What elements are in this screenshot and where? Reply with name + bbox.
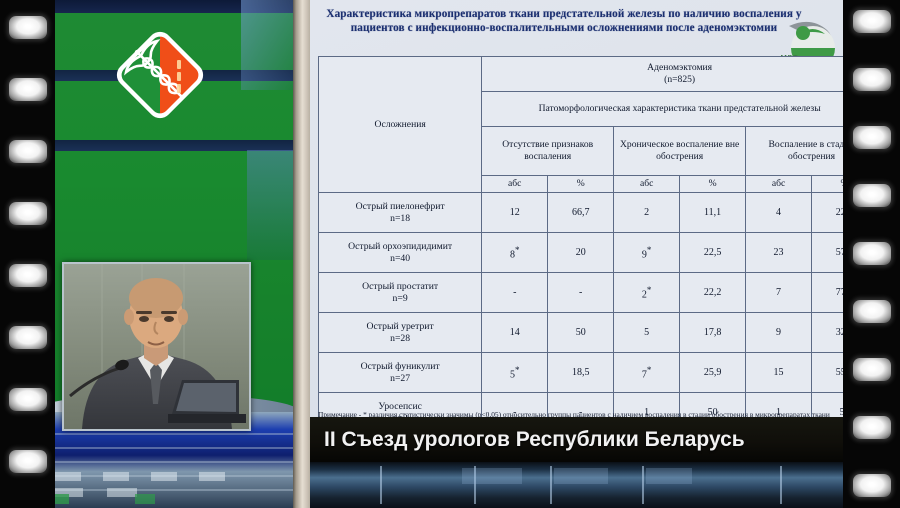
row-label-count: n=40 [390,253,410,264]
header-unit-abs-2: абс [614,176,680,193]
film-perforation [853,242,891,265]
results-table-wrapper: Осложнения Аденомэктомия (n=825) Патомор… [318,56,843,433]
film-perforation [853,416,891,439]
table-cell: 7 [746,273,812,313]
video-frame: Характеристика микропрепаратов ткани пре… [0,0,900,508]
table-cell: 23 [746,233,812,273]
table-cell: 9* [614,233,680,273]
row-label-count: n=27 [390,373,410,384]
film-perforation [853,474,891,497]
table-cell: 18,5 [548,353,614,393]
table-cell: - [548,273,614,313]
table-cell: 55,6 [812,353,843,393]
table-cell: 9 [746,313,812,353]
backdrop-screen-glow-mid [247,150,293,260]
table-cell: 17,8 [680,313,746,353]
event-banner: II Съезд урологов Республики Беларусь [310,417,843,462]
header-unit-pct-2: % [680,176,746,193]
header-group-n: (n=825) [664,74,695,85]
speaker-image [64,264,249,429]
significance-star: * [647,365,652,375]
header-unit-pct-1: % [548,176,614,193]
film-perforation [9,450,47,473]
slide-title: Характеристика микропрепаратов ткани пре… [314,7,814,36]
table-cell: 14 [482,313,548,353]
table-cell: 57,5 [812,233,843,273]
row-label-name: Острый фуникулит [361,361,440,372]
film-perforation [853,10,891,33]
significance-star: * [515,365,520,375]
table-cell: 8* [482,233,548,273]
presentation-slide: Характеристика микропрепаратов ткани пре… [310,0,843,508]
table-cell: 66,7 [548,193,614,233]
table-cell: 2* [614,273,680,313]
film-perforation [853,126,891,149]
table-cell: 5* [482,353,548,393]
table-cell: 22,5 [680,233,746,273]
table-cell: 15 [746,353,812,393]
table-cell: 22,2 [812,193,843,233]
table-row: Острый пиелонефритn=181266,7211,1422,2 [319,193,844,233]
row-label-name: Острый уретрит [367,321,434,332]
film-perforation [9,202,47,225]
row-label-count: n=9 [393,293,408,304]
table-row: Острый уретритn=281450517,8932,1 [319,313,844,353]
header-unit-abs-3: абс [746,176,812,193]
table-cell: 12 [482,193,548,233]
row-label: Острый уретритn=28 [319,313,482,353]
table-cell: 20 [548,233,614,273]
event-banner-text: II Съезд урологов Республики Беларусь [310,428,745,452]
film-perforation [853,68,891,91]
film-perforation [853,184,891,207]
row-label: Острый простатитn=9 [319,273,482,313]
table-cell: 4 [746,193,812,233]
film-perforation [9,16,47,39]
row-label-name: Острый орхоэпидидимит [348,241,452,252]
table-cell: 22,2 [680,273,746,313]
filmstrip-right [843,0,900,508]
caduceus-diamond-logo-icon [107,22,213,128]
film-perforation [853,358,891,381]
header-col-acute-inflammation: Воспаление в стадии обострения [746,127,843,176]
film-perforation [9,78,47,101]
header-group-title: Аденомэктомия [647,62,712,73]
film-perforation [9,140,47,163]
row-label-count: n=18 [390,213,410,224]
filmstrip-left [0,0,55,508]
stage-bottom-strip [310,462,843,508]
backdrop-screen-glow-top [241,0,293,90]
row-label-count: n=28 [390,333,410,344]
speaker-video-inset[interactable] [62,262,251,431]
table-cell: 2 [614,193,680,233]
film-perforation [9,326,47,349]
results-table: Осложнения Аденомэктомия (n=825) Патомор… [318,56,843,433]
row-label-name: Острый пиелонефрит [356,201,445,212]
stage-backdrop-panel [55,0,293,508]
header-group: Аденомэктомия (n=825) [482,57,843,92]
row-label: Острый фуникулитn=27 [319,353,482,393]
header-col-no-inflammation: Отсутствие признаков воспаления [482,127,614,176]
curtain-divider [293,0,310,508]
table-row: Острый орхоэпидидимитn=408*209*22,52357,… [319,233,844,273]
table-cell: 77,8 [812,273,843,313]
header-subgroup: Патоморфологическая характеристика ткани… [482,92,843,127]
table-header-row-group: Осложнения Аденомэктомия (n=825) [319,57,844,92]
row-label: Острый орхоэпидидимитn=40 [319,233,482,273]
header-unit-abs-1: абс [482,176,548,193]
table-cell: 32,1 [812,313,843,353]
table-cell: 7* [614,353,680,393]
film-perforation [9,388,47,411]
significance-star: * [647,285,652,295]
row-label-name: Острый простатит [362,281,438,292]
header-complications: Осложнения [319,57,482,193]
results-table-body: Острый пиелонефритn=181266,7211,1422,2Ос… [319,193,844,433]
significance-star: * [647,245,652,255]
film-perforation [853,300,891,323]
table-row: Острый фуникулитn=275*18,57*25,91555,6 [319,353,844,393]
film-perforation [9,264,47,287]
table-cell: 25,9 [680,353,746,393]
table-cell: 11,1 [680,193,746,233]
header-unit-pct-3: % [812,176,843,193]
header-col-chronic-inflammation: Хроническое воспаление вне обострения [614,127,746,176]
row-label: Острый пиелонефритn=18 [319,193,482,233]
table-cell: - [482,273,548,313]
table-row: Острый простатитn=9--2*22,2777,8 [319,273,844,313]
significance-star: * [515,245,520,255]
table-cell: 50 [548,313,614,353]
table-cell: 5 [614,313,680,353]
